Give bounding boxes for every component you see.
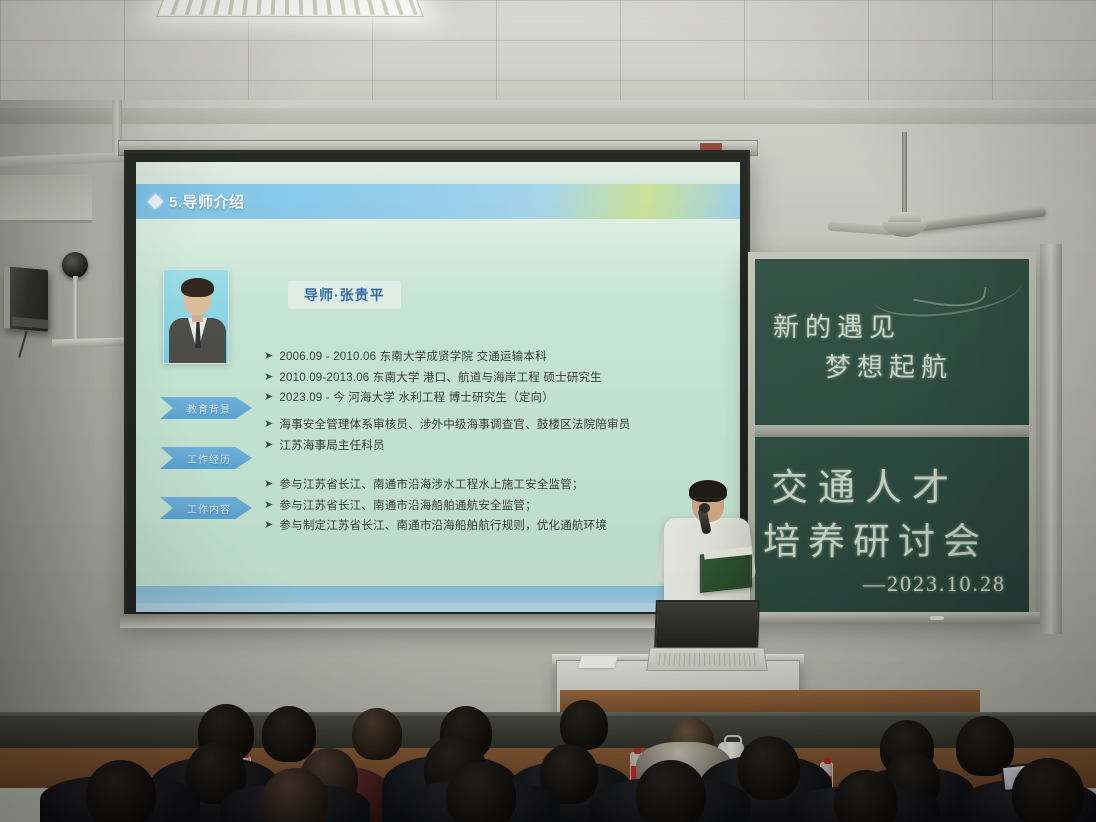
lecture-hall-photo: 5.导师介绍 导师·张贵平 教育背景 xyxy=(0,0,1096,822)
slide-title: 5.导师介绍 xyxy=(169,191,245,212)
wall-niche xyxy=(0,175,92,223)
list-item-label: 2006.09 - 2010.06 东南大学成贤学院 交通运输本科 xyxy=(279,349,546,366)
list-item: ➤ 2023.09 - 今 河海大学 水利工程 博士研究生（定向） xyxy=(264,390,726,407)
audience-head xyxy=(86,760,156,822)
wall-pillar-right xyxy=(1040,244,1062,634)
blackboard-heading-line1: 交通人才 xyxy=(771,457,959,511)
list-item-label: 参与制定江苏省长江、南通市沿海船舶航行规则，优化通航环境 xyxy=(279,518,607,535)
arrow-bullet-icon: ➤ xyxy=(264,498,273,514)
microphone-head xyxy=(699,503,710,513)
slide-tag-duties: 工作内容 xyxy=(160,497,252,519)
arrow-bullet-icon: ➤ xyxy=(264,349,273,365)
list-item: ➤ 参与制定江苏省长江、南通市沿海船舶航行规则，优化通航环境 xyxy=(264,518,726,535)
list-item-label: 2023.09 - 今 河海大学 水利工程 博士研究生（定向） xyxy=(279,390,554,407)
list-item-label: 海事安全管理体系审核员、涉外中级海事调查官、鼓楼区法院陪审员 xyxy=(279,417,630,434)
wall-speaker xyxy=(4,266,48,332)
chalk-stick xyxy=(930,616,944,620)
ceiling-fan-rod xyxy=(902,132,907,218)
fluorescent-ceiling-light xyxy=(156,0,424,17)
presentation-slide: 5.导师介绍 导师·张贵平 教育背景 xyxy=(136,162,740,612)
audience-head xyxy=(262,706,316,762)
list-item: ➤ 江苏海事局主任科员 xyxy=(264,438,726,455)
advisor-portrait-photo xyxy=(163,269,229,364)
list-item: ➤ 2010.09-2013.06 东南大学 港口、航道与海岸工程 硕士研究生 xyxy=(264,370,726,387)
list-item: ➤ 参与江苏省长江、南通市沿海涉水工程水上施工安全监管； xyxy=(264,477,726,494)
presenter-glasses-icon xyxy=(694,498,722,504)
blackboard-surface: 新的遇见 梦想起航 交通人才 培养研讨会 —2023.10.28 xyxy=(755,259,1029,613)
arrow-bullet-icon: ➤ xyxy=(264,370,273,386)
blackboard: 新的遇见 梦想起航 交通人才 培养研讨会 —2023.10.28 xyxy=(748,252,1036,620)
advisor-name-plate: 导师·张贵平 xyxy=(288,281,401,309)
arrow-bullet-icon: ➤ xyxy=(264,477,273,493)
list-item-label: 参与江苏省长江、南通市沿海涉水工程水上施工安全监管； xyxy=(279,477,583,494)
projector-screen: 5.导师介绍 导师·张贵平 教育背景 xyxy=(124,150,750,620)
slide-tag-experience: 工作经历 xyxy=(160,447,252,469)
wall-beam xyxy=(0,108,1096,124)
slide-tag-experience-label: 工作经历 xyxy=(181,451,231,466)
audience-head xyxy=(636,760,706,822)
portrait-hair xyxy=(181,278,214,297)
diamond-bullet-icon xyxy=(148,194,164,210)
blackboard-divider xyxy=(755,425,1029,437)
blackboard-heading-line2: 培养研讨会 xyxy=(763,511,988,565)
slide-tag-duties-label: 工作内容 xyxy=(181,501,231,516)
arrow-bullet-icon: ➤ xyxy=(264,518,273,534)
audience-head xyxy=(738,736,800,800)
laptop-screen xyxy=(654,600,760,650)
blackboard-title-line1: 新的遇见 xyxy=(773,307,901,344)
slide-top-margin xyxy=(136,162,740,184)
experience-block: ➤ 海事安全管理体系审核员、涉外中级海事调查官、鼓楼区法院陪审员 ➤ 江苏海事局… xyxy=(264,417,726,458)
security-camera-icon xyxy=(62,252,88,278)
education-block: ➤ 2006.09 - 2010.06 东南大学成贤学院 交通运输本科 ➤ 20… xyxy=(264,349,726,411)
list-item-label: 江苏海事局主任科员 xyxy=(279,438,384,455)
list-item-label: 2010.09-2013.06 东南大学 港口、航道与海岸工程 硕士研究生 xyxy=(279,370,601,387)
audience-head xyxy=(352,708,402,760)
list-item: ➤ 海事安全管理体系审核员、涉外中级海事调查官、鼓楼区法院陪审员 xyxy=(264,417,726,434)
podium-paper xyxy=(578,656,617,668)
screen-brand-logo xyxy=(700,143,722,150)
slide-title-bar: 5.导师介绍 xyxy=(136,184,740,219)
slide-body: 导师·张贵平 教育背景 工作经历 工作内容 ➤ 2006.09 - 2010.0… xyxy=(136,219,740,586)
camera-mount-pole xyxy=(73,276,78,346)
arrow-bullet-icon: ➤ xyxy=(264,390,273,406)
audience-head xyxy=(560,700,608,750)
blackboard-date: —2023.10.28 xyxy=(863,571,1006,597)
audience-head-photographer xyxy=(1012,758,1084,822)
list-item: ➤ 参与江苏省长江、南通市沿海船舶通航安全监管； xyxy=(264,498,726,515)
list-item: ➤ 2006.09 - 2010.06 东南大学成贤学院 交通运输本科 xyxy=(264,349,726,366)
duties-block: ➤ 参与江苏省长江、南通市沿海涉水工程水上施工安全监管； ➤ 参与江苏省长江、南… xyxy=(264,477,726,539)
chalk-tray xyxy=(744,612,1040,624)
advisor-name: 导师·张贵平 xyxy=(304,287,385,303)
audience-desk-rear xyxy=(560,690,980,712)
audience-head xyxy=(446,762,516,822)
blackboard-title-line2: 梦想起航 xyxy=(825,347,953,384)
arrow-bullet-icon: ➤ xyxy=(264,417,273,433)
list-item-label: 参与江苏省长江、南通市沿海船舶通航安全监管； xyxy=(279,498,536,515)
slide-tag-education-label: 教育背景 xyxy=(181,401,231,416)
slide-bottom-bar xyxy=(136,586,740,612)
laptop-keyboard xyxy=(646,648,767,671)
slide-tag-education: 教育背景 xyxy=(160,397,252,419)
arrow-bullet-icon: ➤ xyxy=(264,438,273,454)
